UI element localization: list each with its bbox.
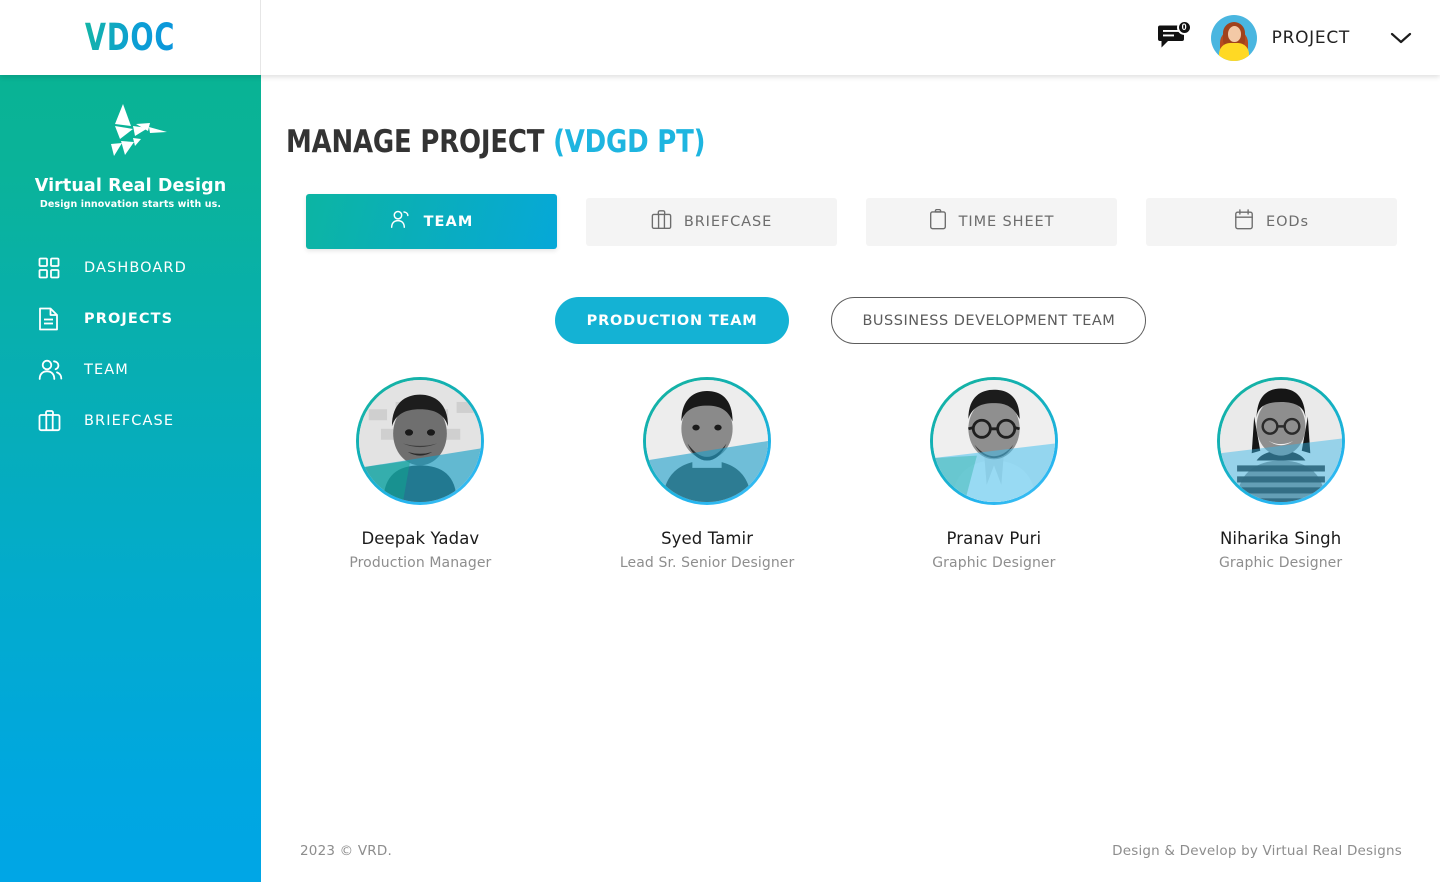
sidebar-item-label: BRIEFCASE: [84, 413, 174, 429]
team-filter-group: PRODUCTION TEAM BUSSINESS DEVELOPMENT TE…: [261, 297, 1440, 344]
section-tabs: TEAM BRIEFCASE TIME SHEET: [306, 198, 1440, 249]
member-avatar: [1220, 380, 1342, 502]
people-icon: [38, 357, 66, 383]
tab-time-sheet[interactable]: TIME SHEET: [866, 198, 1117, 246]
team-member-card[interactable]: Niharika Singh Graphic Designer: [1137, 377, 1424, 571]
app-logo-zone: VDOC: [0, 0, 261, 75]
member-name: Syed Tamir: [661, 529, 753, 548]
header-right-cluster: 0 PROJECT: [1153, 15, 1440, 61]
page-title: MANAGE PROJECT (VDGD PT): [286, 124, 1359, 160]
member-avatar-ring: [930, 377, 1058, 505]
sidebar-nav: DASHBOARD PROJECTS: [0, 242, 261, 446]
hummingbird-logo-icon: [89, 100, 173, 170]
vdoc-logo[interactable]: VDOC: [85, 16, 175, 59]
header-user-label[interactable]: PROJECT: [1272, 28, 1350, 48]
member-avatar: [933, 380, 1055, 502]
filter-business-development-team[interactable]: BUSSINESS DEVELOPMENT TEAM: [831, 297, 1146, 344]
main-content: MANAGE PROJECT (VDGD PT) TEAM: [261, 75, 1440, 882]
sidebar-brand: Virtual Real Design Design innovation st…: [0, 75, 261, 210]
member-avatar: [646, 380, 768, 502]
member-avatar-ring: [1217, 377, 1345, 505]
tab-briefcase[interactable]: BRIEFCASE: [586, 198, 837, 246]
sidebar: Virtual Real Design Design innovation st…: [0, 75, 261, 882]
tab-label: EODs: [1266, 214, 1309, 230]
member-role: Graphic Designer: [1219, 555, 1342, 571]
member-name: Deepak Yadav: [361, 529, 479, 548]
member-role: Graphic Designer: [932, 555, 1055, 571]
tab-label: TIME SHEET: [959, 214, 1055, 230]
document-icon: [38, 306, 66, 332]
team-member-card[interactable]: Deepak Yadav Production Manager: [277, 377, 564, 571]
chat-unread-badge: 0: [1177, 20, 1192, 35]
team-member-card[interactable]: Pranav Puri Graphic Designer: [851, 377, 1138, 571]
avatar[interactable]: [1211, 15, 1257, 61]
briefcase-icon: [651, 209, 672, 235]
member-name: Pranav Puri: [947, 529, 1042, 548]
briefcase-icon: [38, 408, 66, 434]
filter-production-team[interactable]: PRODUCTION TEAM: [555, 297, 790, 344]
member-avatar-ring: [356, 377, 484, 505]
sidebar-brand-tagline: Design innovation starts with us.: [40, 199, 221, 210]
tab-label: TEAM: [424, 214, 474, 230]
tab-label: BRIEFCASE: [684, 214, 772, 230]
chat-bubble-icon[interactable]: 0: [1153, 21, 1193, 55]
people-icon: [390, 210, 412, 234]
clipboard-icon: [929, 209, 947, 235]
footer-copyright: 2023 © VRD.: [300, 843, 392, 859]
chevron-down-icon[interactable]: [1390, 31, 1412, 45]
member-avatar-ring: [643, 377, 771, 505]
sidebar-brand-name: Virtual Real Design: [35, 176, 227, 196]
sidebar-item-dashboard[interactable]: DASHBOARD: [0, 242, 261, 293]
sidebar-item-projects[interactable]: PROJECTS: [0, 293, 261, 344]
sidebar-item-label: DASHBOARD: [84, 260, 187, 276]
member-role: Production Manager: [349, 555, 491, 571]
member-name: Niharika Singh: [1220, 529, 1341, 548]
footer-credit: Design & Develop by Virtual Real Designs: [1112, 843, 1402, 859]
sidebar-item-team[interactable]: TEAM: [0, 344, 261, 395]
tab-team[interactable]: TEAM: [306, 194, 557, 249]
member-role: Lead Sr. Senior Designer: [620, 555, 794, 571]
member-avatar: [359, 380, 481, 502]
page-title-accent: (VDGD PT): [553, 124, 705, 160]
sidebar-item-label: TEAM: [84, 362, 129, 378]
team-member-grid: Deepak Yadav Production Manager: [261, 377, 1440, 571]
top-header-bar: VDOC 0 PROJECT: [0, 0, 1440, 75]
grid-icon: [38, 255, 66, 281]
sidebar-item-label: PROJECTS: [84, 311, 173, 327]
sidebar-item-briefcase[interactable]: BRIEFCASE: [0, 395, 261, 446]
tab-eods[interactable]: EODs: [1146, 198, 1397, 246]
page-title-primary: MANAGE PROJECT: [286, 124, 544, 160]
calendar-icon: [1234, 209, 1254, 235]
team-member-card[interactable]: Syed Tamir Lead Sr. Senior Designer: [564, 377, 851, 571]
footer: 2023 © VRD. Design & Develop by Virtual …: [261, 820, 1440, 882]
